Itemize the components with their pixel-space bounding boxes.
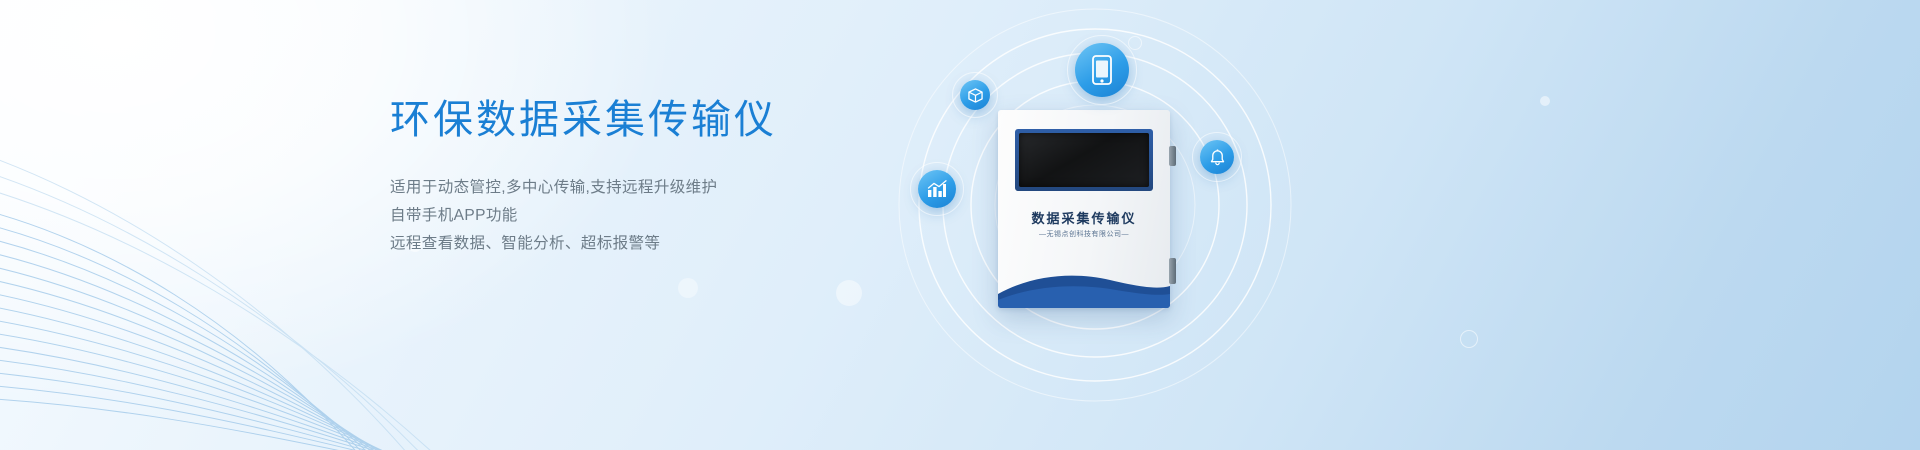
icon-bubble-chart[interactable] [918, 170, 956, 208]
icon-bubble-phone[interactable] [1075, 43, 1129, 97]
hero-banner: 环保数据采集传输仪 适用于动态管控,多中心传输,支持远程升级维护 自带手机APP… [0, 0, 1920, 450]
bokeh-circle [836, 280, 862, 306]
icon-bubble-alarm[interactable] [1200, 140, 1234, 174]
bokeh-circle [678, 278, 698, 298]
page-title: 环保数据采集传输仪 [390, 96, 910, 144]
bokeh-ring [1460, 330, 1478, 348]
subtitle-list: 适用于动态管控,多中心传输,支持远程升级维护 自带手机APP功能 远程查看数据、… [390, 174, 910, 258]
device-hinge [1169, 146, 1176, 166]
device-screen [1019, 133, 1149, 187]
banner-text-block: 环保数据采集传输仪 适用于动态管控,多中心传输,支持远程升级维护 自带手机APP… [390, 96, 910, 258]
device-company-name: —无锡点创科技有限公司— [998, 229, 1170, 239]
product-illustration: 数据采集传输仪 —无锡点创科技有限公司— [880, 0, 1440, 450]
package-box-icon [968, 88, 983, 103]
device-wave-graphic [998, 264, 1170, 308]
bar-chart-icon [927, 180, 947, 198]
device-brand-title: 数据采集传输仪 [998, 208, 1170, 227]
device-hinge [1169, 258, 1176, 284]
subtitle-line-1: 适用于动态管控,多中心传输,支持远程升级维护 [390, 174, 910, 202]
bokeh-circle [1540, 96, 1550, 106]
icon-bubble-box[interactable] [960, 80, 990, 110]
device-unit: 数据采集传输仪 —无锡点创科技有限公司— [998, 110, 1170, 308]
device-screen-bezel [1015, 129, 1153, 191]
alarm-bell-icon [1209, 149, 1226, 166]
subtitle-line-2: 自带手机APP功能 [390, 202, 910, 230]
subtitle-line-3: 远程查看数据、智能分析、超标报警等 [390, 230, 910, 258]
mobile-phone-icon [1092, 55, 1112, 85]
